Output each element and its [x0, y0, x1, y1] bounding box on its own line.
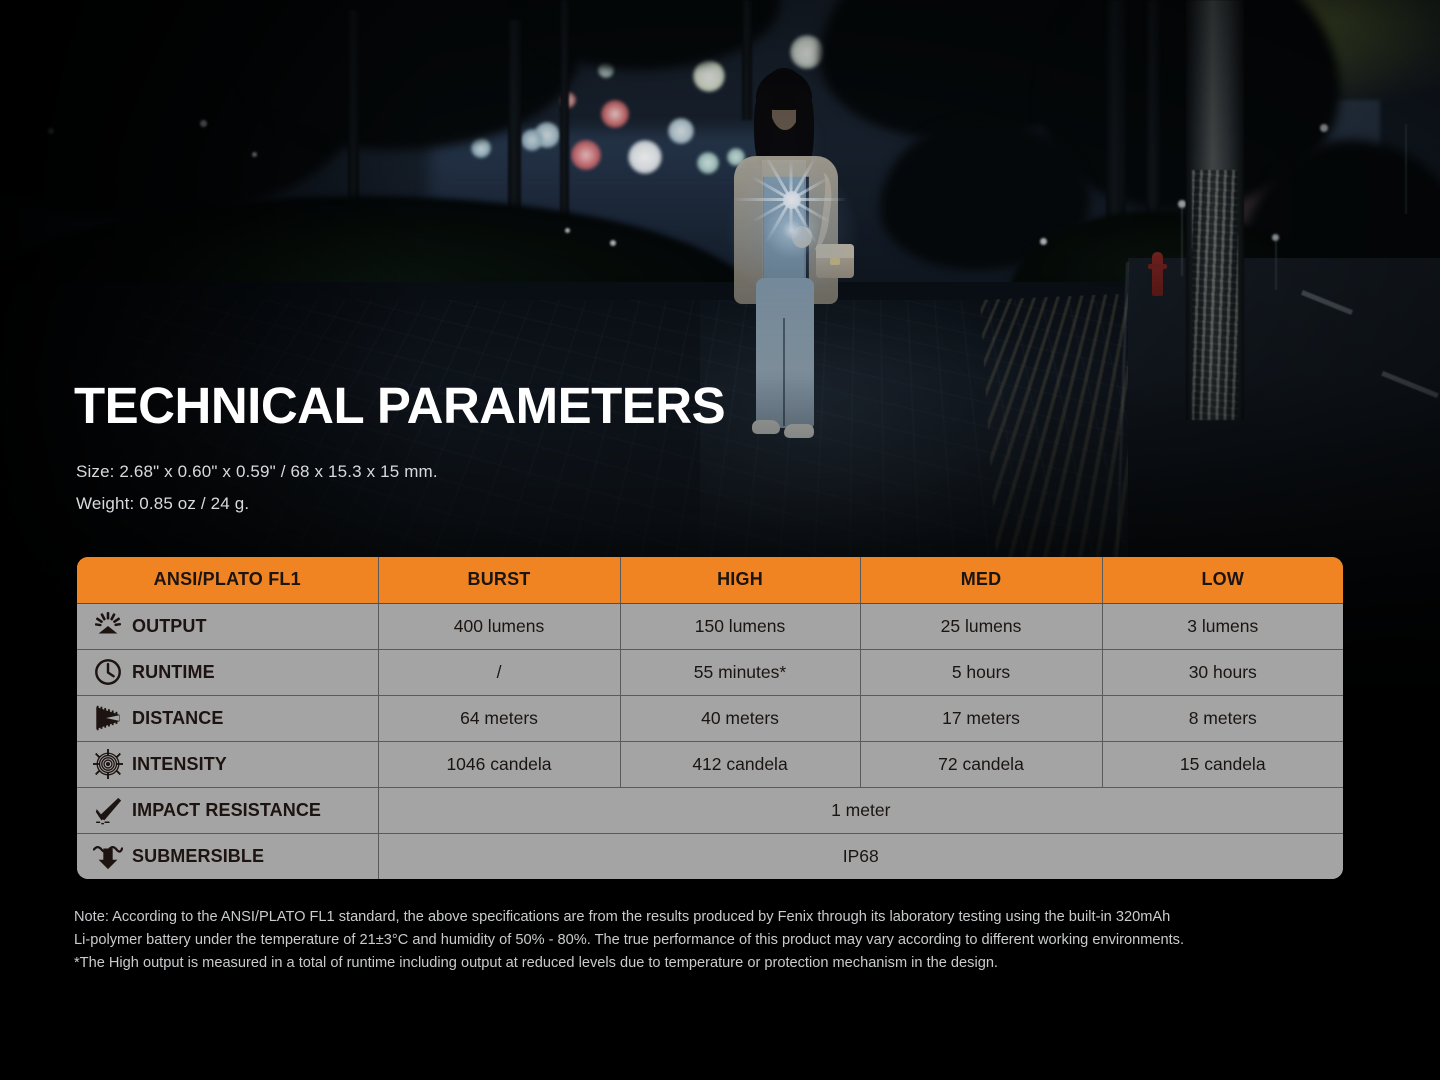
cell-intensity-high: 412 candela: [620, 741, 860, 787]
bokeh-light: [601, 100, 629, 128]
person-shoe-left: [752, 420, 780, 434]
table-row-runtime: RUNTIME / 55 minutes* 5 hours 30 hours: [77, 649, 1343, 695]
cell-output-burst: 400 lumens: [378, 603, 620, 649]
bokeh-light: [471, 138, 491, 158]
bokeh-light: [628, 140, 662, 174]
sunburst-icon: [93, 611, 123, 641]
table-row-intensity: INTENSITY 1046 candela 412 candela 72 ca…: [77, 741, 1343, 787]
page-title: TECHNICAL PARAMETERS: [74, 380, 725, 431]
row-label-runtime: RUNTIME: [77, 649, 378, 695]
table-row-distance: DISTANCE 64 meters 40 meters 17 meters 8…: [77, 695, 1343, 741]
footnote: Note: According to the ANSI/PLATO FL1 st…: [74, 906, 1354, 975]
footnote-line-2: Li-polymer battery under the temperature…: [74, 929, 1354, 952]
technical-parameters-table: ANSI/PLATO FL1 BURST HIGH MED LOW: [77, 557, 1343, 879]
cell-submersible-value: IP68: [378, 833, 1343, 879]
cell-runtime-burst: /: [378, 649, 620, 695]
person-shoe-right: [784, 424, 814, 438]
bokeh-light: [790, 35, 824, 69]
lamp-post: [1405, 124, 1407, 214]
street-lamp-light: [1040, 238, 1047, 245]
street-lamp-light: [48, 128, 54, 134]
cell-intensity-burst: 1046 candela: [378, 741, 620, 787]
lamp-post: [1181, 206, 1183, 276]
cell-distance-burst: 64 meters: [378, 695, 620, 741]
cell-intensity-low: 15 candela: [1102, 741, 1343, 787]
table-header-burst: BURST: [378, 557, 620, 603]
table-row-impact-resistance: IMPACT RESISTANCE 1 meter: [77, 787, 1343, 833]
cell-runtime-low: 30 hours: [1102, 649, 1343, 695]
table-header-med: MED: [860, 557, 1102, 603]
bokeh-light: [571, 140, 601, 170]
flashlight-beam-core: [783, 191, 801, 209]
spec-size-line: Size: 2.68" x 0.60" x 0.59" / 68 x 15.3 …: [76, 462, 438, 482]
street-lamp-light: [200, 120, 207, 127]
target-intensity-icon: [93, 749, 123, 779]
table-header-ansi-plato-fl1: ANSI/PLATO FL1: [77, 557, 378, 603]
row-label-intensity: INTENSITY: [77, 741, 378, 787]
submersible-icon: [93, 841, 123, 871]
footnote-line-1: Note: According to the ANSI/PLATO FL1 st…: [74, 906, 1354, 929]
tree-trunk: [348, 10, 359, 210]
street-lamp-light: [610, 240, 616, 246]
cell-output-high: 150 lumens: [620, 603, 860, 649]
table-row-submersible: SUBMERSIBLE IP68: [77, 833, 1343, 879]
row-label-output: OUTPUT: [77, 603, 378, 649]
tree-bark-texture: [1192, 170, 1238, 420]
foreground-tree-trunk: [1186, 0, 1244, 420]
beam-distance-icon: [93, 703, 123, 733]
footnote-line-3: *The High output is measured in a total …: [74, 952, 1354, 975]
row-label-submersible: SUBMERSIBLE: [77, 833, 378, 879]
cell-impact-resistance-value: 1 meter: [378, 787, 1343, 833]
bokeh-light: [521, 129, 543, 151]
row-label-text: IMPACT RESISTANCE: [132, 800, 321, 821]
person-trouser-seam: [783, 318, 785, 426]
cell-runtime-high: 55 minutes*: [620, 649, 860, 695]
fire-hydrant: [1152, 252, 1163, 296]
row-label-distance: DISTANCE: [77, 695, 378, 741]
page-root: TECHNICAL PARAMETERS Size: 2.68" x 0.60"…: [0, 0, 1440, 1080]
table-header-row: ANSI/PLATO FL1 BURST HIGH MED LOW: [77, 557, 1343, 603]
lamp-post: [1275, 240, 1277, 290]
table-header-high: HIGH: [620, 557, 860, 603]
cell-intensity-med: 72 candela: [860, 741, 1102, 787]
table-row-output: OUTPUT 400 lumens 150 lumens 25 lumens 3…: [77, 603, 1343, 649]
cell-runtime-med: 5 hours: [860, 649, 1102, 695]
row-label-text: OUTPUT: [132, 616, 207, 637]
cell-output-low: 3 lumens: [1102, 603, 1343, 649]
table-header-low: LOW: [1102, 557, 1343, 603]
row-label-text: RUNTIME: [132, 662, 215, 683]
tree-trunk: [560, 0, 569, 230]
impact-hammer-icon: [93, 795, 123, 825]
cell-distance-low: 8 meters: [1102, 695, 1343, 741]
cell-distance-high: 40 meters: [620, 695, 860, 741]
bokeh-light: [693, 60, 725, 92]
row-label-text: SUBMERSIBLE: [132, 846, 264, 867]
street-lamp-light: [252, 152, 257, 157]
row-label-text: DISTANCE: [132, 708, 223, 729]
cell-distance-med: 17 meters: [860, 695, 1102, 741]
row-label-impact-resistance: IMPACT RESISTANCE: [77, 787, 378, 833]
street-lamp-light: [1320, 124, 1328, 132]
street-lamp-light: [565, 228, 570, 233]
clock-icon: [93, 657, 123, 687]
spec-weight-line: Weight: 0.85 oz / 24 g.: [76, 494, 249, 514]
row-label-text: INTENSITY: [132, 754, 227, 775]
bokeh-light: [668, 118, 694, 144]
cell-output-med: 25 lumens: [860, 603, 1102, 649]
